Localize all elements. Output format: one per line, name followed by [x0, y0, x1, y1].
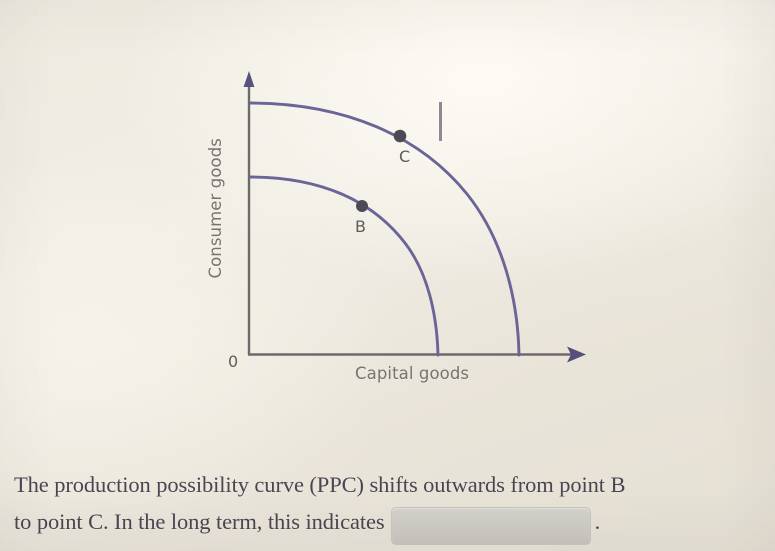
ppc-chart-svg: [0, 0, 775, 400]
question-line-2: to point C. In the long term, this indic…: [14, 503, 770, 541]
y-axis: [244, 71, 255, 355]
origin-label: 0: [228, 352, 238, 371]
ppc-curve-inner: [250, 177, 438, 355]
data-point-label-c: C: [399, 147, 410, 166]
data-point-b[interactable]: [356, 200, 368, 212]
data-point-label-b: B: [355, 217, 366, 236]
question-text: The production possibility curve (PPC) s…: [14, 466, 770, 541]
x-axis: [248, 347, 586, 363]
question-page: Consumer goods Capital goods 0 C B The p…: [0, 0, 775, 551]
answer-blank-input[interactable]: [391, 507, 591, 545]
x-axis-label: Capital goods: [355, 364, 469, 383]
ppc-curve-outer: [250, 103, 519, 355]
question-line-2-prefix: to point C. In the long term, this indic…: [14, 509, 385, 534]
question-line-1: The production possibility curve (PPC) s…: [14, 466, 770, 503]
data-point-c[interactable]: [394, 130, 407, 143]
y-axis-label: Consumer goods: [206, 138, 225, 279]
ppc-chart-figure: Consumer goods Capital goods 0 C B: [0, 0, 775, 400]
question-line-2-suffix: .: [595, 509, 601, 534]
